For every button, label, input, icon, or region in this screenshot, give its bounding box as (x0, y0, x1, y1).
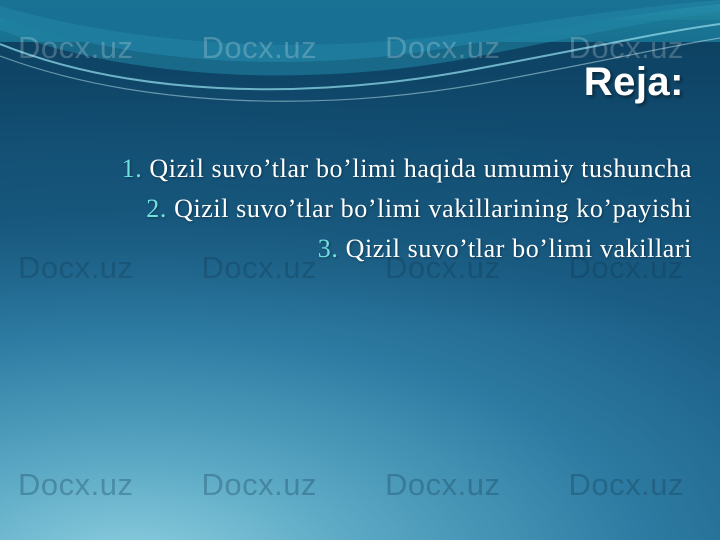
list-item: 1. Qizil suvo’tlar bo’limi haqida umumiy… (60, 152, 692, 186)
list-item-label: Qizil suvo’tlar bo’limi vakillari (346, 234, 692, 263)
agenda-list: 1. Qizil suvo’tlar bo’limi haqida umumiy… (60, 152, 692, 265)
watermark-text: Docx.uz (568, 467, 683, 503)
list-item-label: Qizil suvo’tlar bo’limi vakillarining ko… (174, 194, 692, 223)
list-item: 3. Qizil suvo’tlar bo’limi vakillari (60, 232, 692, 266)
watermark-text: Docx.uz (201, 30, 316, 66)
watermark-text: Docx.uz (385, 30, 500, 66)
watermark-text: Docx.uz (18, 467, 133, 503)
watermark-text: Docx.uz (201, 467, 316, 503)
list-item-label: Qizil suvo’tlar bo’limi haqida umumiy tu… (149, 154, 692, 183)
watermark-text: Docx.uz (18, 30, 133, 66)
list-item: 2. Qizil suvo’tlar bo’limi vakillarining… (60, 192, 692, 226)
list-item-number: 1. (122, 154, 143, 183)
slide-content: 1. Qizil suvo’tlar bo’limi haqida umumiy… (60, 152, 692, 271)
watermark-text: Docx.uz (385, 467, 500, 503)
list-item-number: 2. (146, 194, 167, 223)
watermark-row: Docx.uz Docx.uz Docx.uz Docx.uz (0, 467, 720, 503)
list-item-number: 3. (318, 234, 339, 263)
slide-title: Reja: (584, 60, 684, 105)
presentation-slide: Docx.uz Docx.uz Docx.uz Docx.uz Docx.uz … (0, 0, 720, 540)
